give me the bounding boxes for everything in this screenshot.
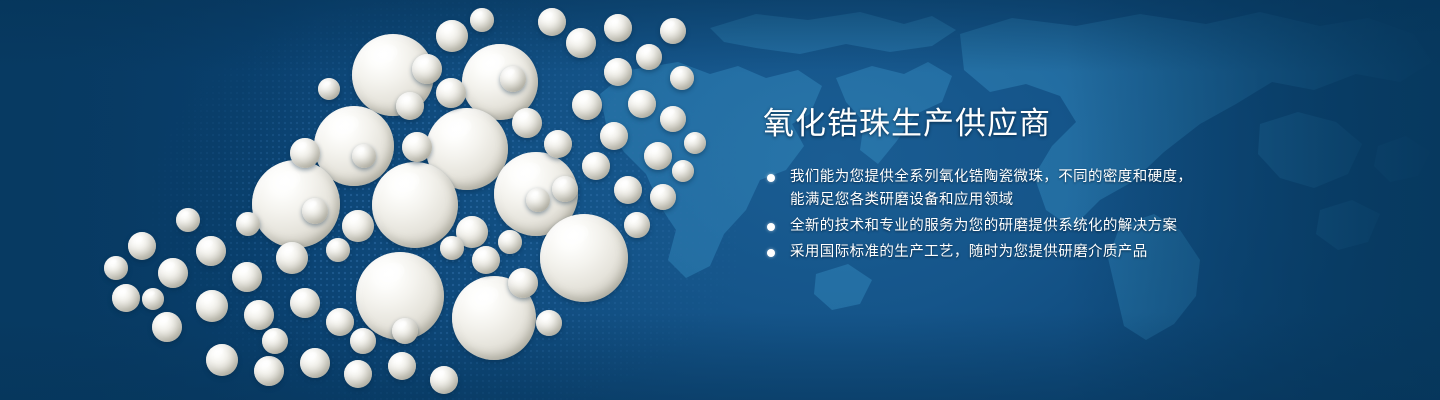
- bead: [472, 246, 500, 274]
- bead: [538, 8, 566, 36]
- bullet-text-line-1: 全新的技术和专业的服务为您的研磨提供系统化的解决方案: [790, 218, 1177, 234]
- bead: [430, 366, 458, 394]
- bead: [388, 352, 416, 380]
- bead: [600, 122, 628, 150]
- bead: [254, 356, 284, 386]
- list-item: 采用国际标准的生产工艺，随时为您提供研磨介质产品: [763, 241, 1383, 264]
- bead: [176, 208, 200, 232]
- bead: [636, 44, 662, 70]
- bullet-text-line-1: 我们能为您提供全系列氧化锆陶瓷微珠，不同的密度和硬度，: [790, 169, 1192, 185]
- bead: [252, 160, 340, 248]
- zirconia-beads-product-photo: [0, 0, 760, 400]
- bead: [158, 258, 188, 288]
- feature-bullet-list: 我们能为您提供全系列氧化锆陶瓷微珠，不同的密度和硬度， 能满足您各类研磨设备和应…: [763, 166, 1383, 264]
- bead: [152, 312, 182, 342]
- bead: [644, 142, 672, 170]
- bead: [670, 66, 694, 90]
- bead: [302, 198, 328, 224]
- bead: [236, 212, 260, 236]
- banner-text-block: 氧化锆珠生产供应商 我们能为您提供全系列氧化锆陶瓷微珠，不同的密度和硬度， 能满…: [763, 104, 1383, 267]
- bead: [536, 310, 562, 336]
- bead: [412, 54, 442, 84]
- bullet-dot-icon: [767, 174, 775, 182]
- hero-banner: 氧化锆珠生产供应商 我们能为您提供全系列氧化锆陶瓷微珠，不同的密度和硬度， 能满…: [0, 0, 1440, 400]
- bead: [440, 236, 464, 260]
- bead: [196, 236, 226, 266]
- bead: [512, 108, 542, 138]
- bead: [402, 132, 432, 162]
- bead: [352, 144, 376, 168]
- bead: [544, 130, 572, 158]
- bullet-dot-icon: [767, 223, 775, 231]
- bead: [290, 138, 320, 168]
- bead: [498, 230, 522, 254]
- bead: [342, 210, 374, 242]
- bead: [112, 284, 140, 312]
- bead: [660, 106, 686, 132]
- bead: [196, 290, 228, 322]
- bullet-dot-icon: [767, 249, 775, 257]
- bead: [300, 348, 330, 378]
- bead: [526, 188, 550, 212]
- bead: [290, 288, 320, 318]
- page-title: 氧化锆珠生产供应商: [763, 104, 1383, 144]
- bead: [206, 344, 238, 376]
- bead: [614, 176, 642, 204]
- bead: [650, 184, 676, 210]
- bead: [552, 176, 578, 202]
- bead: [684, 132, 706, 154]
- bead: [276, 242, 308, 274]
- bead: [660, 18, 686, 44]
- bead: [104, 256, 128, 280]
- bead: [142, 288, 164, 310]
- bead: [436, 78, 466, 108]
- bead: [344, 360, 372, 388]
- bead: [470, 8, 494, 32]
- bead: [350, 328, 376, 354]
- bead: [540, 214, 628, 302]
- bead: [508, 268, 538, 298]
- bead: [672, 160, 694, 182]
- bead: [326, 308, 354, 336]
- bead: [128, 232, 156, 260]
- bead: [396, 92, 424, 120]
- bead: [232, 262, 262, 292]
- bead: [624, 212, 650, 238]
- bead: [326, 238, 350, 262]
- bead: [372, 162, 458, 248]
- bead: [572, 90, 602, 120]
- bead: [604, 58, 632, 86]
- bullet-text-line-1: 采用国际标准的生产工艺，随时为您提供研磨介质产品: [790, 244, 1148, 260]
- bead: [628, 90, 656, 118]
- bead: [392, 318, 418, 344]
- bead: [262, 328, 288, 354]
- bead: [318, 78, 340, 100]
- bead: [566, 28, 596, 58]
- bullet-text-line-2: 能满足您各类研磨设备和应用领域: [790, 189, 1383, 212]
- list-item: 我们能为您提供全系列氧化锆陶瓷微珠，不同的密度和硬度， 能满足您各类研磨设备和应…: [763, 166, 1383, 212]
- bead: [500, 66, 526, 92]
- bead: [582, 152, 610, 180]
- bead: [244, 300, 274, 330]
- bead: [436, 20, 468, 52]
- list-item: 全新的技术和专业的服务为您的研磨提供系统化的解决方案: [763, 215, 1383, 238]
- bead: [604, 14, 632, 42]
